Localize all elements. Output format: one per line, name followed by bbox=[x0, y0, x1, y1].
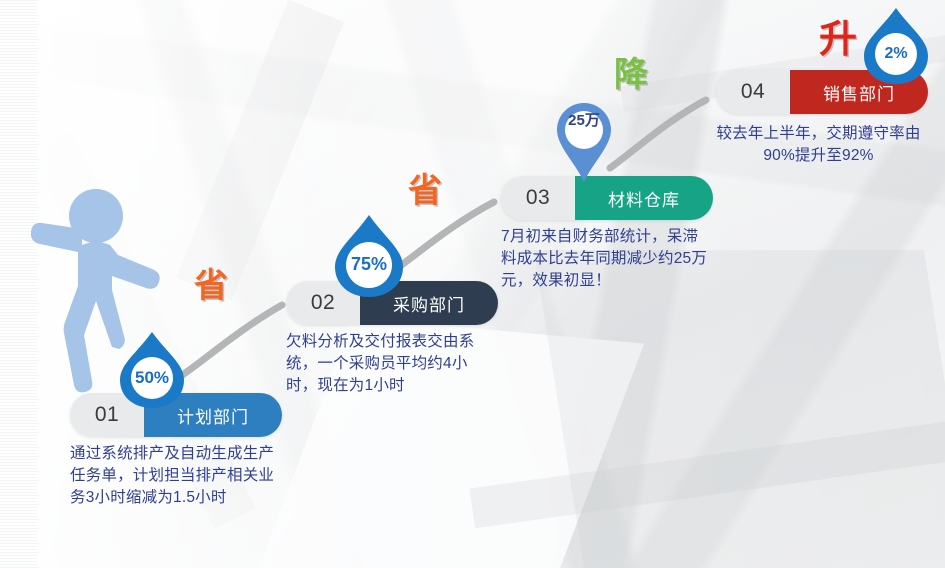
map-pin-badge-03: 25万 bbox=[556, 102, 612, 184]
droplet-icon bbox=[118, 330, 186, 410]
step-description-01: 通过系统排产及自动生成生产任务单，计划担当排产相关业务3小时缩减为1.5小时 bbox=[70, 443, 282, 509]
map-pin-icon bbox=[556, 102, 612, 184]
step-number-04: 04 bbox=[716, 70, 790, 114]
droplet-badge-02: 75% bbox=[332, 213, 406, 299]
droplet-badge-01: 50% bbox=[118, 330, 186, 410]
droplet-icon bbox=[332, 213, 406, 299]
step-description-02: 欠料分析及交付报表交由系统，一个采购员平均约4小时，现在为1小时 bbox=[286, 331, 498, 397]
annotation-save-1: 省 bbox=[194, 258, 228, 307]
step-card-03[interactable]: 03 材料仓库 7月初来自财务部统计，呆滞料成本比去年同期减少约25万元，效果初… bbox=[501, 176, 713, 292]
step-description-03: 7月初来自财务部统计，呆滞料成本比去年同期减少约25万元，效果初显！ bbox=[501, 226, 713, 292]
step-card-01[interactable]: 01 计划部门 通过系统排产及自动生成生产任务单，计划担当排产相关业务3小时缩减… bbox=[70, 393, 282, 509]
annotation-decrease: 降 bbox=[614, 47, 648, 96]
droplet-badge-04: 2% bbox=[862, 6, 930, 86]
slide-canvas: 01 计划部门 通过系统排产及自动生成生产任务单，计划担当排产相关业务3小时缩减… bbox=[0, 0, 945, 568]
step-description-04: 较去年上半年，交期遵守率由90%提升至92% bbox=[716, 123, 921, 167]
annotation-save-2: 省 bbox=[408, 163, 442, 212]
annotation-increase: 升 bbox=[819, 8, 857, 63]
droplet-icon bbox=[862, 6, 930, 86]
